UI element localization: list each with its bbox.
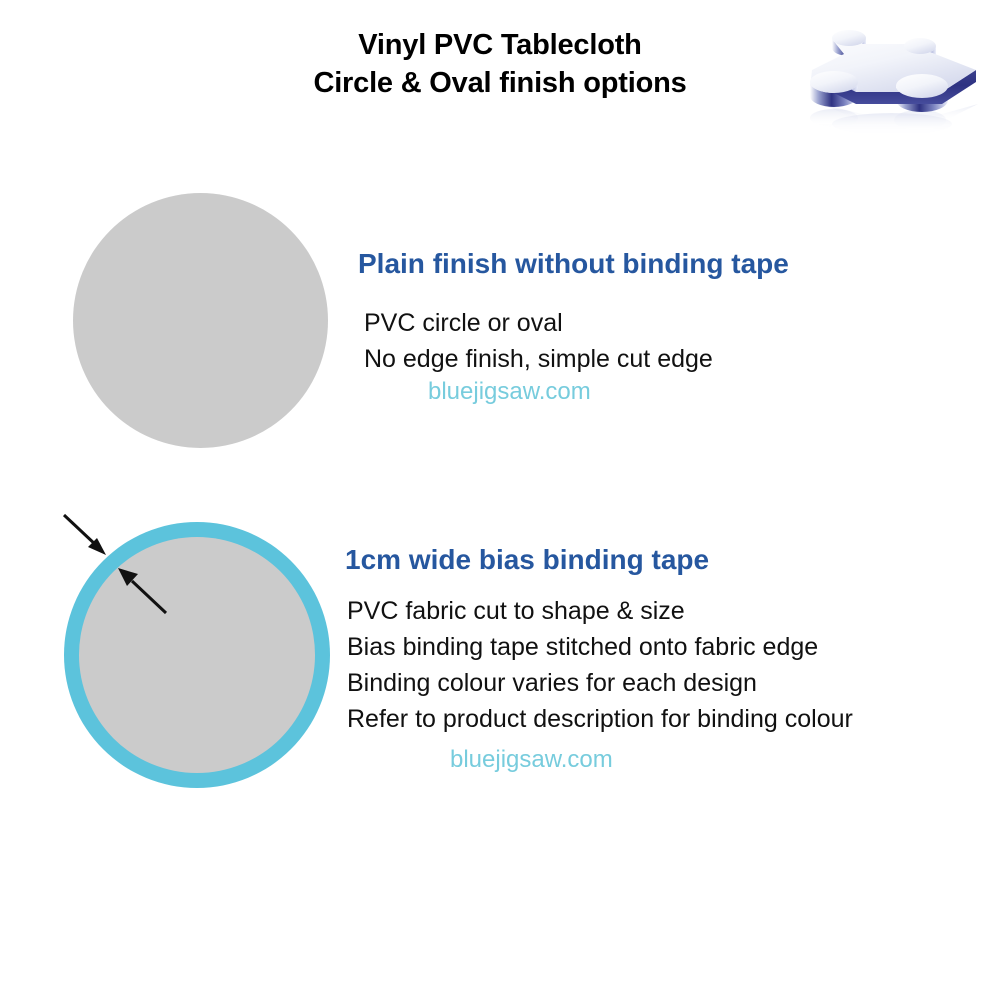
plain-pvc-circle (73, 193, 328, 448)
bound-pvc-circle (64, 522, 330, 788)
page-title: Vinyl PVC Tablecloth Circle & Oval finis… (180, 26, 820, 102)
site-link-bluejigsaw[interactable]: bluejigsaw.com (428, 377, 591, 407)
body-line: Bias binding tape stitched onto fabric e… (347, 629, 853, 665)
body-bias-binding: PVC fabric cut to shape & size Bias bind… (347, 593, 853, 737)
heading-bias-binding: 1cm wide bias binding tape (345, 543, 709, 577)
site-link-bluejigsaw[interactable]: bluejigsaw.com (450, 745, 613, 775)
body-line: PVC fabric cut to shape & size (347, 593, 853, 629)
heading-plain-finish: Plain finish without binding tape (358, 247, 789, 281)
jigsaw-puzzle-piece-logo (792, 18, 988, 140)
body-line: Refer to product description for binding… (347, 701, 853, 737)
body-line: Binding colour varies for each design (347, 665, 853, 701)
body-plain-finish: PVC circle or oval No edge finish, simpl… (364, 305, 713, 377)
body-line: PVC circle or oval (364, 305, 713, 341)
poster-canvas: Vinyl PVC Tablecloth Circle & Oval finis… (0, 0, 1000, 1000)
pvc-fabric-core (79, 537, 315, 773)
title-line-2: Circle & Oval finish options (180, 64, 820, 102)
body-line: No edge finish, simple cut edge (364, 341, 713, 377)
title-line-1: Vinyl PVC Tablecloth (180, 26, 820, 64)
